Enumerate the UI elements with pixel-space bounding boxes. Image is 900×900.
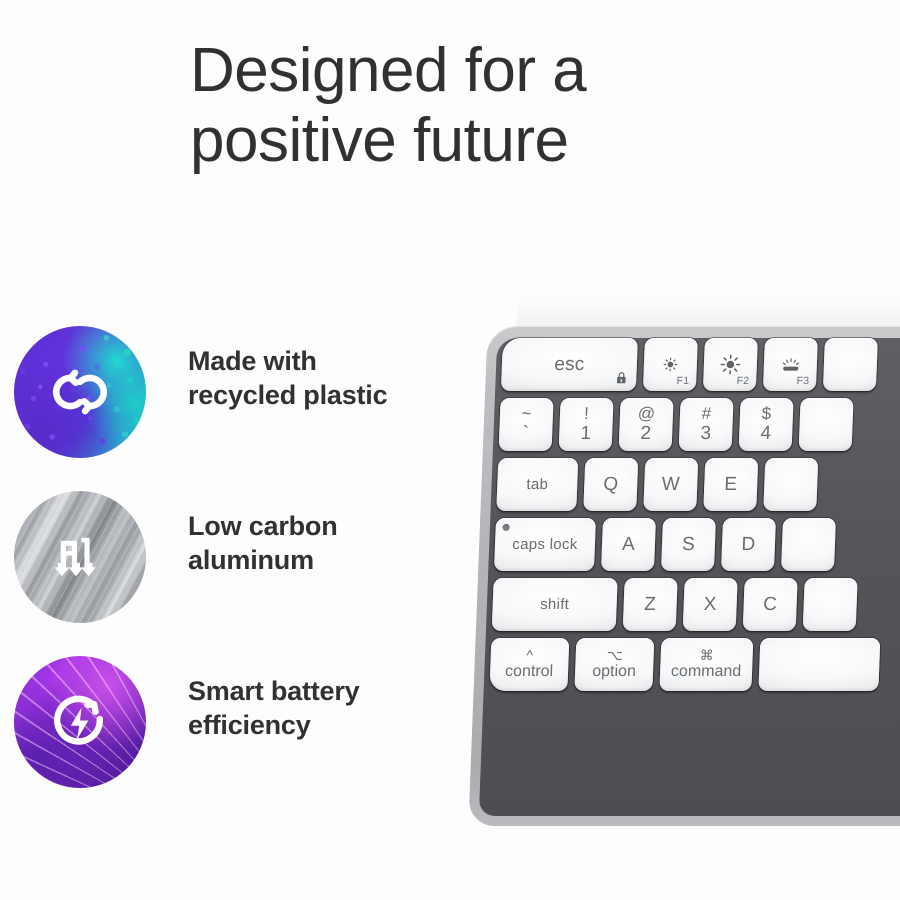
- feature-3-line-2: efficiency: [188, 708, 458, 742]
- key-f2: F2: [703, 338, 758, 391]
- key-a: A: [601, 518, 656, 571]
- key-c-label: C: [763, 594, 778, 616]
- key-grave: ~ `: [499, 398, 554, 451]
- key-option: ⌥ option: [574, 638, 654, 691]
- keyboard-row-function: esc F1: [493, 338, 900, 391]
- key-caps-lock: caps lock: [494, 518, 596, 571]
- key-c: C: [743, 578, 798, 631]
- key-command-content: ⌘ command: [671, 648, 743, 681]
- lock-icon: [614, 371, 629, 385]
- feature-2-line-2: aluminum: [188, 543, 458, 577]
- key-1-lower: 1: [580, 424, 591, 444]
- aluminum-down-arrows-icon: [14, 491, 146, 623]
- key-grave-upper: ~: [521, 405, 532, 423]
- key-control-content: ^ control: [505, 648, 554, 681]
- key-5: [799, 398, 854, 451]
- key-3-upper: #: [701, 405, 711, 423]
- key-4-labels: $ 4: [760, 405, 772, 445]
- key-1-labels: ! 1: [580, 405, 592, 445]
- key-r: [763, 458, 818, 511]
- key-d: D: [721, 518, 776, 571]
- key-q-label: Q: [603, 474, 619, 496]
- feature-1-line-1: Made with: [188, 344, 458, 378]
- key-option-label: option: [592, 663, 636, 681]
- key-grave-lower: `: [522, 424, 529, 444]
- keyboard-body: [468, 326, 900, 826]
- key-command: ⌘ command: [659, 638, 753, 691]
- key-2-upper: @: [638, 405, 656, 423]
- key-f: [781, 518, 836, 571]
- key-4-lower: 4: [760, 424, 771, 444]
- feature-item-smart-battery-efficiency: Smart battery efficiency: [0, 648, 470, 813]
- key-e-label: E: [724, 474, 738, 496]
- feature-label-low-carbon-aluminum: Low carbon aluminum: [188, 509, 458, 578]
- key-3-lower: 3: [700, 424, 711, 444]
- badge-glyph: [14, 326, 146, 458]
- keyboard-backlight-icon: [779, 357, 802, 373]
- key-f2-fn-label: F2: [736, 375, 749, 387]
- key-1-upper: !: [584, 405, 589, 423]
- page-title: Designed for a positive future: [190, 36, 750, 176]
- key-tab-label: tab: [526, 476, 548, 493]
- key-caps-lock-label: caps lock: [512, 536, 578, 553]
- brightness-up-icon: [719, 354, 741, 375]
- feature-label-smart-battery-efficiency: Smart battery efficiency: [188, 674, 458, 743]
- page-title-line-2: positive future: [190, 106, 750, 176]
- feature-1-line-2: recycled plastic: [188, 378, 458, 412]
- key-3-labels: # 3: [700, 405, 712, 445]
- keyboard-row-home: caps lock A S D: [486, 518, 900, 571]
- keyboard-rows: esc F1: [481, 338, 900, 698]
- key-option-content: ⌥ option: [592, 648, 637, 681]
- key-f4: [823, 338, 878, 391]
- key-x: X: [683, 578, 738, 631]
- key-s: S: [661, 518, 716, 571]
- badge-glyph: [14, 656, 146, 788]
- feature-list: Made with recycled plastic: [0, 318, 470, 813]
- key-z: Z: [623, 578, 678, 631]
- key-tab: tab: [496, 458, 578, 511]
- key-2: @ 2: [619, 398, 674, 451]
- key-4-upper: $: [761, 405, 771, 423]
- key-control: ^ control: [489, 638, 569, 691]
- key-command-label: command: [671, 663, 742, 681]
- keyboard-row-number: ~ ` ! 1 @ 2: [491, 398, 900, 451]
- key-v: [803, 578, 858, 631]
- key-f1: F1: [643, 338, 698, 391]
- feature-label-recycled-plastic: Made with recycled plastic: [188, 344, 458, 413]
- option-alt-icon: ⌥: [606, 648, 623, 662]
- feature-3-line-1: Smart battery: [188, 674, 458, 708]
- key-w: W: [643, 458, 698, 511]
- key-esc-label: esc: [554, 354, 585, 376]
- command-icon: ⌘: [699, 648, 714, 662]
- caps-lock-led-indicator: [503, 524, 510, 531]
- badge-glyph: [14, 491, 146, 623]
- battery-refresh-bolt-icon: [14, 656, 146, 788]
- keyboard-row-qwerty: tab Q W E: [488, 458, 900, 511]
- promo-page: esc F1: [0, 0, 900, 900]
- key-4: $ 4: [739, 398, 794, 451]
- control-caret-icon: ^: [526, 648, 533, 662]
- key-e: E: [703, 458, 758, 511]
- brightness-down-icon: [662, 356, 680, 373]
- feature-item-low-carbon-aluminum: Low carbon aluminum: [0, 483, 470, 648]
- key-q: Q: [583, 458, 638, 511]
- key-3: # 3: [679, 398, 734, 451]
- keyboard-row-bottom: ^ control ⌥ option ⌘ command: [481, 638, 900, 691]
- key-2-labels: @ 2: [637, 405, 656, 445]
- key-f3: F3: [763, 338, 818, 391]
- key-esc: esc: [501, 338, 638, 391]
- key-x-label: X: [703, 594, 717, 616]
- recycle-arrows-icon: [14, 326, 146, 458]
- key-z-label: Z: [644, 594, 657, 616]
- key-control-label: control: [505, 663, 554, 681]
- key-spacebar: [758, 638, 880, 691]
- key-d-label: D: [741, 534, 756, 556]
- keyboard-top-bezel: [516, 278, 900, 334]
- key-w-label: W: [661, 474, 680, 496]
- keyboard-key-plate: [479, 338, 900, 816]
- key-1: ! 1: [559, 398, 614, 451]
- key-a-label: A: [622, 534, 636, 556]
- key-f1-fn-label: F1: [676, 375, 689, 387]
- keyboard-row-shift: shift Z X C: [484, 578, 900, 631]
- page-title-line-1: Designed for a: [190, 36, 750, 106]
- key-shift-label: shift: [540, 596, 570, 613]
- key-2-lower: 2: [640, 424, 651, 444]
- feature-2-line-1: Low carbon: [188, 509, 458, 543]
- key-shift: shift: [492, 578, 618, 631]
- key-grave-labels: ~ `: [520, 405, 531, 445]
- feature-item-recycled-plastic: Made with recycled plastic: [0, 318, 470, 483]
- key-f3-fn-label: F3: [796, 375, 809, 387]
- key-s-label: S: [682, 534, 696, 556]
